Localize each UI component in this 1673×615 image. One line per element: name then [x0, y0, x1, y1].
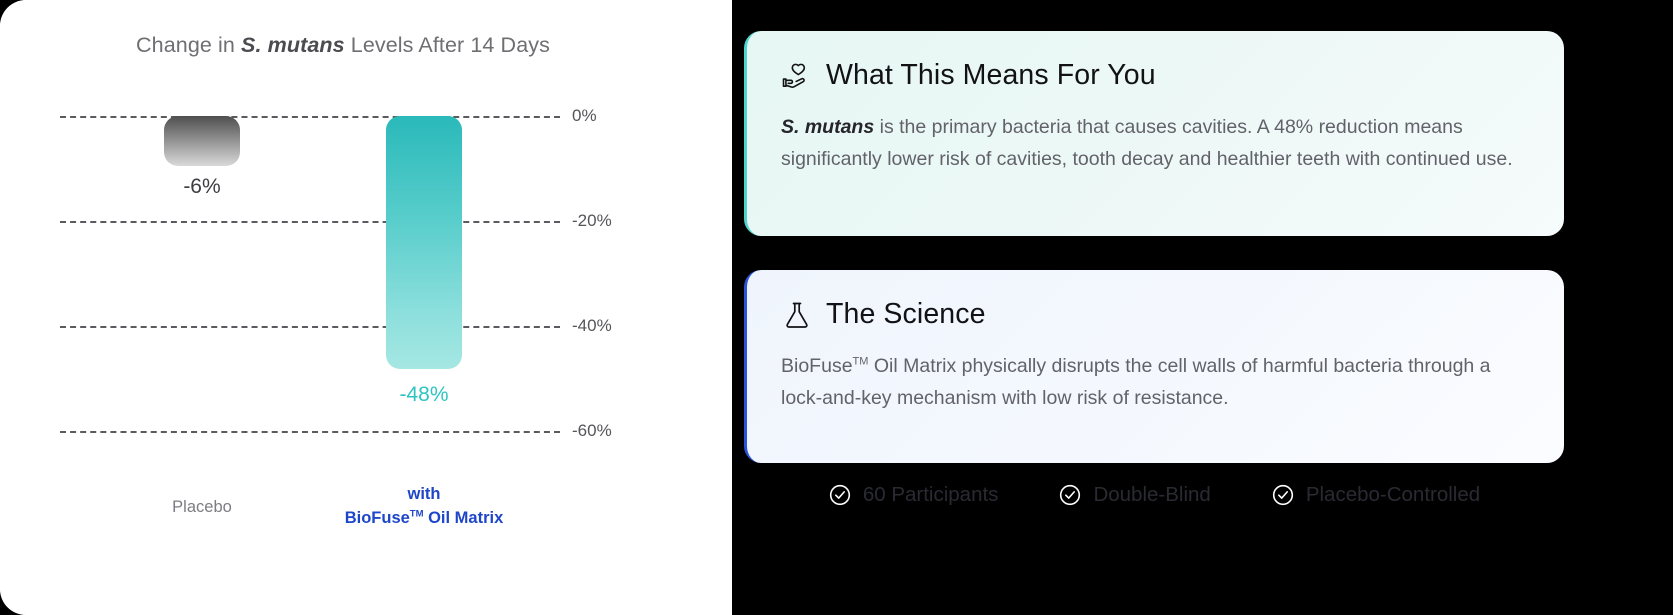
badge-participants: 60 Participants: [828, 483, 999, 507]
chart-plot-area: 0% -20% -40% -60% -6% -48% Placebo with …: [60, 100, 626, 470]
card-body-means: S. mutans is the primary bacteria that c…: [781, 112, 1530, 175]
chart-title: Change in S. mutans Levels After 14 Days: [0, 33, 686, 58]
right-column: What This Means For You S. mutans is the…: [744, 0, 1564, 615]
flask-icon: [781, 299, 813, 331]
chart-card-surface: Change in S. mutans Levels After 14 Days…: [0, 0, 686, 615]
card-title-means: What This Means For You: [826, 59, 1156, 92]
axis-label-biofuse-line2: BioFuseTM Oil Matrix: [345, 509, 504, 527]
card-body-science: BioFuseTM Oil Matrix physically disrupts…: [781, 351, 1530, 414]
chart-panel: Change in S. mutans Levels After 14 Days…: [0, 0, 732, 615]
ytick-label-3: -60%: [572, 421, 612, 441]
card-body-science-text: Oil Matrix physically disrupts the cell …: [781, 355, 1491, 409]
badge-double-blind: Double-Blind: [1058, 483, 1210, 507]
chart-title-species: S. mutans: [241, 33, 345, 57]
card-body-means-text: is the primary bacteria that causes cavi…: [781, 116, 1513, 170]
badge-participants-label: 60 Participants: [863, 483, 999, 507]
badge-placebo-controlled-label: Placebo-Controlled: [1306, 483, 1480, 507]
trademark-symbol: TM: [410, 508, 424, 519]
axis-label-biofuse: with BioFuseTM Oil Matrix: [334, 483, 514, 531]
card-body-science-brand: BioFuse: [781, 355, 853, 377]
screenshot-root: Change in S. mutans Levels After 14 Days…: [0, 0, 1673, 615]
badge-double-blind-label: Double-Blind: [1093, 483, 1210, 507]
ytick-label-0: 0%: [572, 106, 597, 126]
check-circle-icon: [1271, 483, 1295, 507]
check-circle-icon: [1058, 483, 1082, 507]
bar-placebo: [164, 116, 240, 166]
study-badges: 60 Participants Double-Blind: [744, 483, 1564, 507]
badge-placebo-controlled: Placebo-Controlled: [1271, 483, 1480, 507]
gridline-minus20: [60, 221, 560, 223]
ytick-label-2: -40%: [572, 316, 612, 336]
bar-value-biofuse: -48%: [376, 383, 472, 407]
gridline-0: [60, 116, 560, 118]
card-body-species: S. mutans: [781, 116, 874, 138]
card-header-science: The Science: [781, 298, 1530, 331]
bar-value-placebo: -6%: [164, 175, 240, 199]
chart-title-prefix: Change in: [136, 33, 241, 57]
check-circle-icon: [828, 483, 852, 507]
hand-holding-heart-icon: [781, 60, 813, 92]
trademark-symbol-science: TM: [853, 356, 869, 368]
gridline-minus60: [60, 431, 560, 433]
card-header-means: What This Means For You: [781, 59, 1530, 92]
gridline-minus40: [60, 326, 560, 328]
axis-label-biofuse-line1: with: [408, 485, 441, 503]
bar-biofuse: [386, 116, 462, 369]
card-the-science: The Science BioFuseTM Oil Matrix physica…: [744, 270, 1564, 463]
card-title-science: The Science: [826, 298, 986, 331]
chart-title-suffix: Levels After 14 Days: [345, 33, 550, 57]
card-what-this-means: What This Means For You S. mutans is the…: [744, 31, 1564, 236]
axis-label-placebo: Placebo: [132, 496, 272, 520]
ytick-label-1: -20%: [572, 211, 612, 231]
